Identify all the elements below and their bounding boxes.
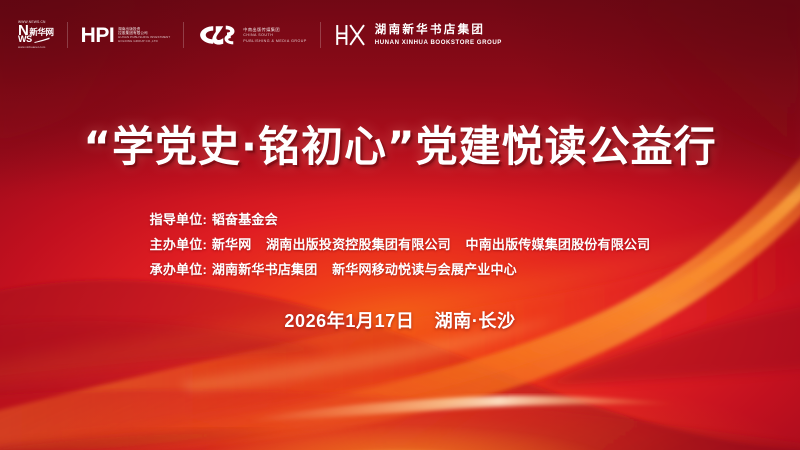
hx-cn: 湖南新华书店集团 [375,24,502,37]
organizer-entity: 新华网移动悦读与会展产业中心 [332,262,517,277]
xinhuanet-mark-sub: WS [18,35,32,44]
organizer-line-host: 主办单位: 新华网 湖南出版投资控股集团有限公司 中南出版传媒集团股份有限公司 [150,232,651,257]
poster-title: “学党史·铭初心”党建悦读公益行 [0,113,800,174]
cns-en-line2: PUBLISHING & MEDIA GROUP [243,39,307,43]
hx-mark-icon [334,22,368,48]
hx-en: HUNAN XINHUA BOOKSTORE GROUP [375,39,502,46]
logo-hunan-xinhua-bookstore: 湖南新华书店集团 HUNAN XINHUA BOOKSTORE GROUP [334,22,502,48]
organizer-label-organizer: 承办单位: [150,262,207,277]
organizer-block: 指导单位: 韬奋基金会 主办单位: 新华网 湖南出版投资控股集团有限公司 中南出… [0,207,800,282]
organizer-line-guidance: 指导单位: 韬奋基金会 [150,207,651,232]
event-place: 湖南·长沙 [435,311,516,331]
cns-mark-icon [197,23,237,47]
hpi-en-line2: HOLDING GROUP CO.,LTD [118,40,170,43]
swoosh-icon [34,37,50,43]
logo-cns: 中南出版传媒集团 CHINA SOUTH PUBLISHING & MEDIA … [197,23,307,47]
logo-divider [320,22,321,48]
event-poster: WWW.NEWS.CN N 新华网 WS www.xinhuanet.com H… [0,0,800,450]
organizer-entity: 湖南新华书店集团 [212,262,318,277]
event-date: 2026年1月17日 [284,311,414,331]
hpi-mark: HPI [81,25,115,46]
sponsor-logo-bar: WWW.NEWS.CN N 新华网 WS www.xinhuanet.com H… [18,14,502,56]
organizer-entity: 湖南出版投资控股集团有限公司 [266,237,451,252]
xinhuanet-url: www.xinhuanet.com [18,46,45,49]
organizer-label-guidance: 指导单位: [150,212,207,227]
event-date-location: 2026年1月17日 湖南·长沙 [0,307,800,333]
organizer-line-organizer: 承办单位: 湖南新华书店集团 新华网移动悦读与会展产业中心 [150,257,651,282]
cns-en-line1: CHINA SOUTH [243,33,307,37]
xinhuanet-top-text: WWW.NEWS.CN [18,21,46,24]
center-glow-core [90,408,710,450]
organizer-entity: 中南出版传媒集团股份有限公司 [466,237,651,252]
cns-cn: 中南出版传媒集团 [243,27,307,32]
logo-hpi: HPI 湖南出版投资 控股集团有限公司 HUNAN PUBLISHING INV… [81,25,171,46]
organizer-entity: 新华网 [212,237,252,252]
logo-divider [183,22,184,48]
logo-xinhuanet: WWW.NEWS.CN N 新华网 WS www.xinhuanet.com [18,21,54,49]
organizer-entity: 韬奋基金会 [212,212,278,227]
organizer-label-host: 主办单位: [150,237,207,252]
logo-divider [67,22,68,48]
